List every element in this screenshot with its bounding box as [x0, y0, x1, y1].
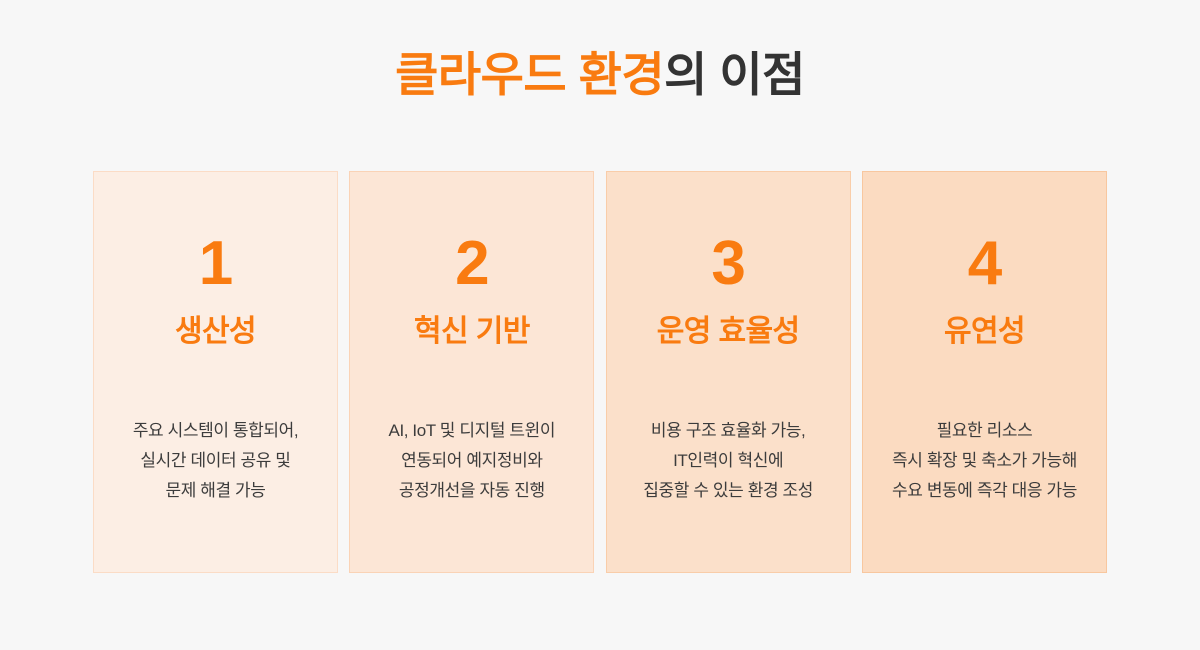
card-body-line: 연동되어 예지정비와 [358, 446, 585, 476]
card-body: 주요 시스템이 통합되어, 실시간 데이터 공유 및 문제 해결 가능 [94, 416, 337, 506]
benefit-card-2[interactable]: 2 혁신 기반 AI, IoT 및 디지털 트윈이 연동되어 예지정비와 공정개… [349, 171, 594, 573]
card-body-line: IT인력이 혁신에 [615, 446, 842, 476]
card-body-line: 문제 해결 가능 [102, 476, 329, 506]
card-body-line: 필요한 리소스 [871, 416, 1098, 446]
card-number: 3 [711, 233, 744, 295]
card-body: 비용 구조 효율화 가능, IT인력이 혁신에 집중할 수 있는 환경 조성 [607, 416, 850, 506]
page-title: 클라우드 환경의 이점 [0, 48, 1200, 102]
card-body-line: 주요 시스템이 통합되어, [102, 416, 329, 446]
card-body-line: 즉시 확장 및 축소가 가능해 [871, 446, 1098, 476]
benefit-card-4[interactable]: 4 유연성 필요한 리소스 즉시 확장 및 축소가 가능해 수요 변동에 즉각 … [862, 171, 1107, 573]
card-heading: 유연성 [944, 315, 1025, 350]
slide-title: 클라우드 환경의 이점 [0, 48, 1200, 102]
slide-title-rest: 의 이점 [664, 48, 805, 101]
benefit-card-1[interactable]: 1 생산성 주요 시스템이 통합되어, 실시간 데이터 공유 및 문제 해결 가… [93, 171, 338, 573]
card-body-line: 비용 구조 효율화 가능, [615, 416, 842, 446]
benefit-card-3[interactable]: 3 운영 효율성 비용 구조 효율화 가능, IT인력이 혁신에 집중할 수 있… [606, 171, 851, 573]
card-body-line: 공정개선을 자동 진행 [358, 476, 585, 506]
card-number: 4 [968, 233, 1001, 295]
card-heading: 생산성 [175, 315, 256, 350]
slide-title-accent: 클라우드 환경 [395, 48, 664, 101]
card-body: 필요한 리소스 즉시 확장 및 축소가 가능해 수요 변동에 즉각 대응 가능 [863, 416, 1106, 506]
card-number: 1 [199, 233, 232, 295]
card-number: 2 [455, 233, 488, 295]
slide-root: 클라우드 환경의 이점 1 생산성 주요 시스템이 통합되어, 실시간 데이터 … [0, 0, 1200, 650]
card-heading: 운영 효율성 [657, 315, 800, 350]
card-body: AI, IoT 및 디지털 트윈이 연동되어 예지정비와 공정개선을 자동 진행 [350, 416, 593, 506]
card-body-line: 수요 변동에 즉각 대응 가능 [871, 476, 1098, 506]
card-body-line: AI, IoT 및 디지털 트윈이 [358, 416, 585, 446]
card-heading: 혁신 기반 [414, 315, 530, 350]
card-body-line: 집중할 수 있는 환경 조성 [615, 476, 842, 506]
card-body-line: 실시간 데이터 공유 및 [102, 446, 329, 476]
benefit-card-grid: 1 생산성 주요 시스템이 통합되어, 실시간 데이터 공유 및 문제 해결 가… [93, 171, 1107, 573]
